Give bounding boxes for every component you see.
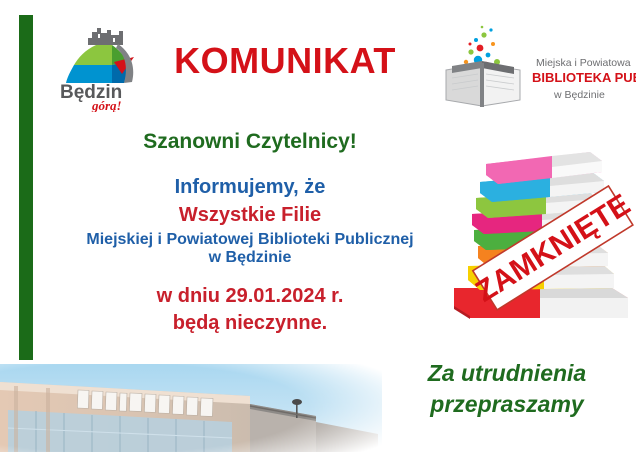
announcement-poster: Będzin górą! KOMUNIKAT	[0, 0, 640, 452]
apology-text: Za utrudnienia przepraszamy	[382, 358, 632, 420]
library-logo-line1: Miejska i Powiatowa	[536, 57, 631, 69]
apology-line-1: Za utrudnienia	[382, 358, 632, 389]
city-logo-tagline: górą!	[91, 98, 122, 112]
library-building-photo	[0, 364, 382, 452]
body-line-4: w Będzinie	[36, 249, 464, 268]
apology-line-2: przepraszamy	[382, 389, 632, 420]
body-line-1: Informujemy, że	[36, 176, 464, 199]
library-logo-line2: BIBLIOTEKA PUBLICZNA	[532, 70, 636, 85]
bedzin-city-logo: Będzin górą!	[52, 22, 150, 112]
body-line-6: będą nieczynne.	[36, 312, 464, 335]
body-line-2: Wszystkie Filie	[36, 204, 464, 227]
green-accent-bar	[19, 15, 33, 360]
body-greeting: Szanowni Czytelnicy!	[36, 130, 464, 154]
announcement-body: Szanowni Czytelnicy! Informujemy, że Wsz…	[36, 130, 464, 335]
library-logo-line3: w Będzinie	[553, 89, 605, 101]
open-book-icon	[446, 61, 520, 107]
spacer	[36, 268, 464, 277]
book-stack-illustration: ZAMKNIĘTE	[452, 138, 640, 334]
body-line-5: w dniu 29.01.2024 r.	[36, 285, 464, 308]
body-line-3: Miejskiej i Powiatowej Biblioteki Public…	[36, 231, 464, 250]
library-logo: Miejska i Powiatowa BIBLIOTEKA PUBLICZNA…	[436, 22, 636, 114]
page-title: KOMUNIKAT	[150, 40, 420, 82]
